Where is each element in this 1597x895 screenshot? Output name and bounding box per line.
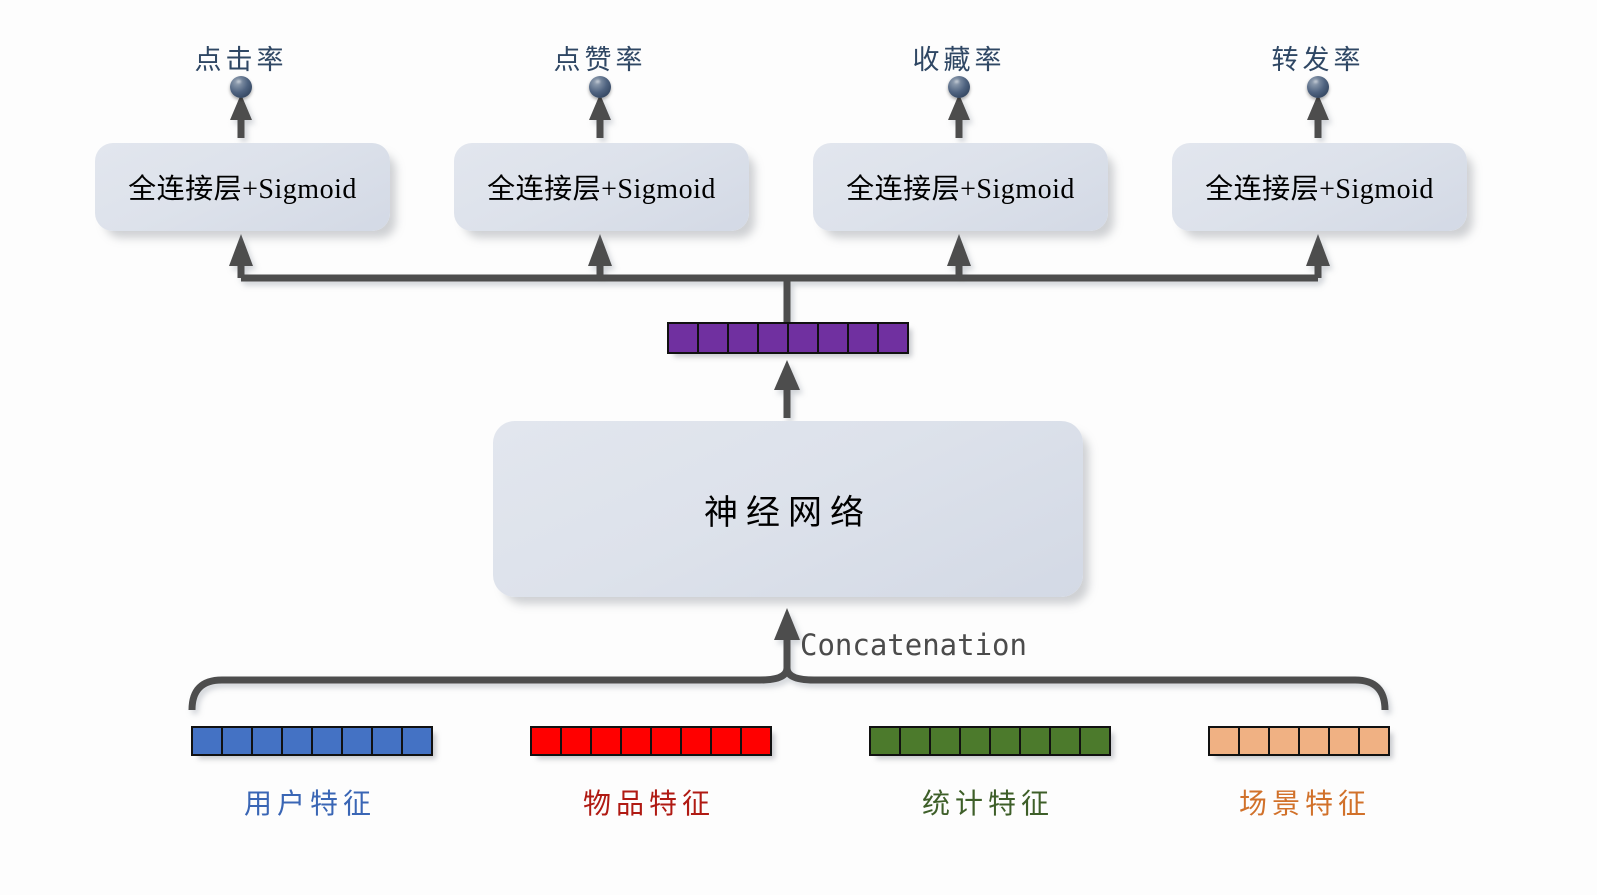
vector-cell: [680, 726, 712, 756]
vector-cell: [650, 726, 682, 756]
vector-cell: [1298, 726, 1330, 756]
vector-cell: [1358, 726, 1390, 756]
vector-cell: [847, 322, 879, 354]
feature-vector-scene: [1208, 726, 1390, 756]
vector-cell: [817, 322, 849, 354]
output-sphere-share: [1307, 76, 1329, 98]
vector-cell: [620, 726, 652, 756]
concatenation-label: Concatenation: [800, 628, 1027, 662]
fc-sigmoid-label: 全连接层+Sigmoid: [1205, 167, 1434, 207]
vector-cell: [727, 322, 759, 354]
output-label-like: 点赞率: [500, 38, 700, 77]
diagram-canvas: 点击率 点赞率 收藏率 转发率 全连接层+Sigmoid 全连接层+Sigmoi…: [0, 0, 1597, 895]
vector-cell: [989, 726, 1021, 756]
vector-cell: [1079, 726, 1111, 756]
fc-sigmoid-label: 全连接层+Sigmoid: [128, 167, 357, 207]
feature-vector-user: [191, 726, 433, 756]
output-sphere-ctr: [230, 76, 252, 98]
vector-cell: [1049, 726, 1081, 756]
fc-sigmoid-label: 全连接层+Sigmoid: [487, 167, 716, 207]
vector-cell: [341, 726, 373, 756]
shared-embedding-vector: [667, 322, 909, 354]
vector-cell: [251, 726, 283, 756]
vector-cell: [667, 322, 699, 354]
vector-cell: [899, 726, 931, 756]
vector-cell: [757, 322, 789, 354]
vector-cell: [710, 726, 742, 756]
vector-cell: [401, 726, 433, 756]
vector-cell: [1268, 726, 1300, 756]
feature-label-item: 物品特征: [549, 782, 749, 822]
feature-vector-stat: [869, 726, 1111, 756]
neural-network-label: 神经网络: [704, 485, 872, 534]
output-label-share: 转发率: [1218, 38, 1418, 77]
output-label-favorite: 收藏率: [859, 38, 1059, 77]
vector-cell: [371, 726, 403, 756]
vector-cell: [877, 322, 909, 354]
vector-cell: [1238, 726, 1270, 756]
vector-cell: [1019, 726, 1051, 756]
output-sphere-like: [589, 76, 611, 98]
vector-cell: [530, 726, 562, 756]
fc-sigmoid-label: 全连接层+Sigmoid: [846, 167, 1075, 207]
vector-cell: [560, 726, 592, 756]
vector-cell: [869, 726, 901, 756]
output-label-ctr: 点击率: [141, 38, 341, 77]
feature-label-stat: 统计特征: [888, 782, 1088, 822]
vector-cell: [740, 726, 772, 756]
feature-vector-item: [530, 726, 772, 756]
fc-sigmoid-box-favorite[interactable]: 全连接层+Sigmoid: [813, 143, 1108, 231]
vector-cell: [959, 726, 991, 756]
vector-cell: [1208, 726, 1240, 756]
vector-cell: [1328, 726, 1360, 756]
fc-sigmoid-box-like[interactable]: 全连接层+Sigmoid: [454, 143, 749, 231]
fc-sigmoid-box-share[interactable]: 全连接层+Sigmoid: [1172, 143, 1467, 231]
vector-cell: [311, 726, 343, 756]
fc-sigmoid-box-ctr[interactable]: 全连接层+Sigmoid: [95, 143, 390, 231]
vector-cell: [221, 726, 253, 756]
vector-cell: [697, 322, 729, 354]
vector-cell: [787, 322, 819, 354]
vector-cell: [929, 726, 961, 756]
feature-label-user: 用户特征: [210, 782, 410, 822]
vector-cell: [281, 726, 313, 756]
vector-cell: [590, 726, 622, 756]
vector-cell: [191, 726, 223, 756]
neural-network-box[interactable]: 神经网络: [493, 421, 1083, 597]
output-sphere-favorite: [948, 76, 970, 98]
feature-label-scene: 场景特征: [1205, 782, 1405, 822]
